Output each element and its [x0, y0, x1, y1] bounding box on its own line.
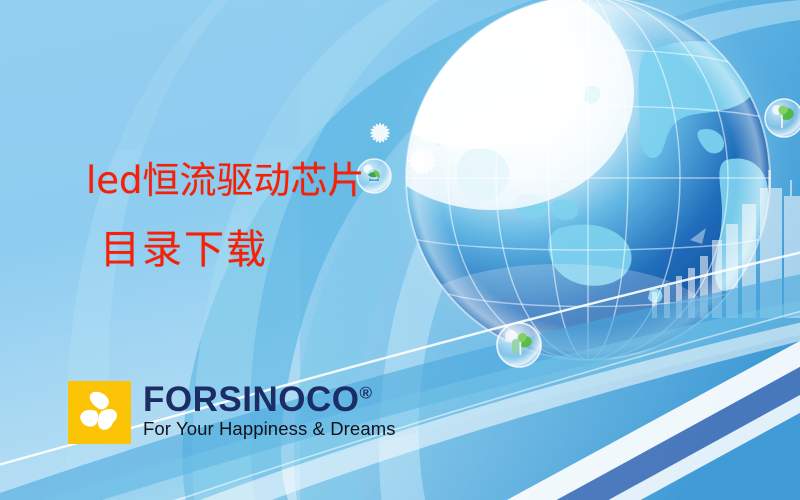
- bubble-plant-icon: [765, 99, 800, 137]
- registered-trademark-icon: ®: [359, 383, 372, 402]
- logo-wordmark: FORSINOCO®: [143, 383, 396, 417]
- logo-text: FORSINOCO® For Your Happiness & Dreams: [143, 381, 396, 440]
- promo-banner: led恒流驱动芯片 目录下载 FORSINOCO® For: [0, 0, 800, 500]
- headline-line-1: led恒流驱动芯片: [86, 162, 365, 199]
- logo-mark: [68, 381, 131, 444]
- sparkle-icon: [370, 123, 390, 143]
- headline-line-2: 目录下载: [100, 230, 365, 270]
- headline: led恒流驱动芯片 目录下载: [86, 162, 365, 270]
- bubble-plant-icon: [497, 323, 541, 367]
- logo-wordmark-text: FORSINOCO: [143, 380, 359, 419]
- pinwheel-flower-icon: [68, 381, 131, 444]
- company-logo[interactable]: FORSINOCO® For Your Happiness & Dreams: [68, 381, 396, 444]
- sparkle-icon: [408, 147, 436, 175]
- logo-tagline: For Your Happiness & Dreams: [143, 418, 396, 440]
